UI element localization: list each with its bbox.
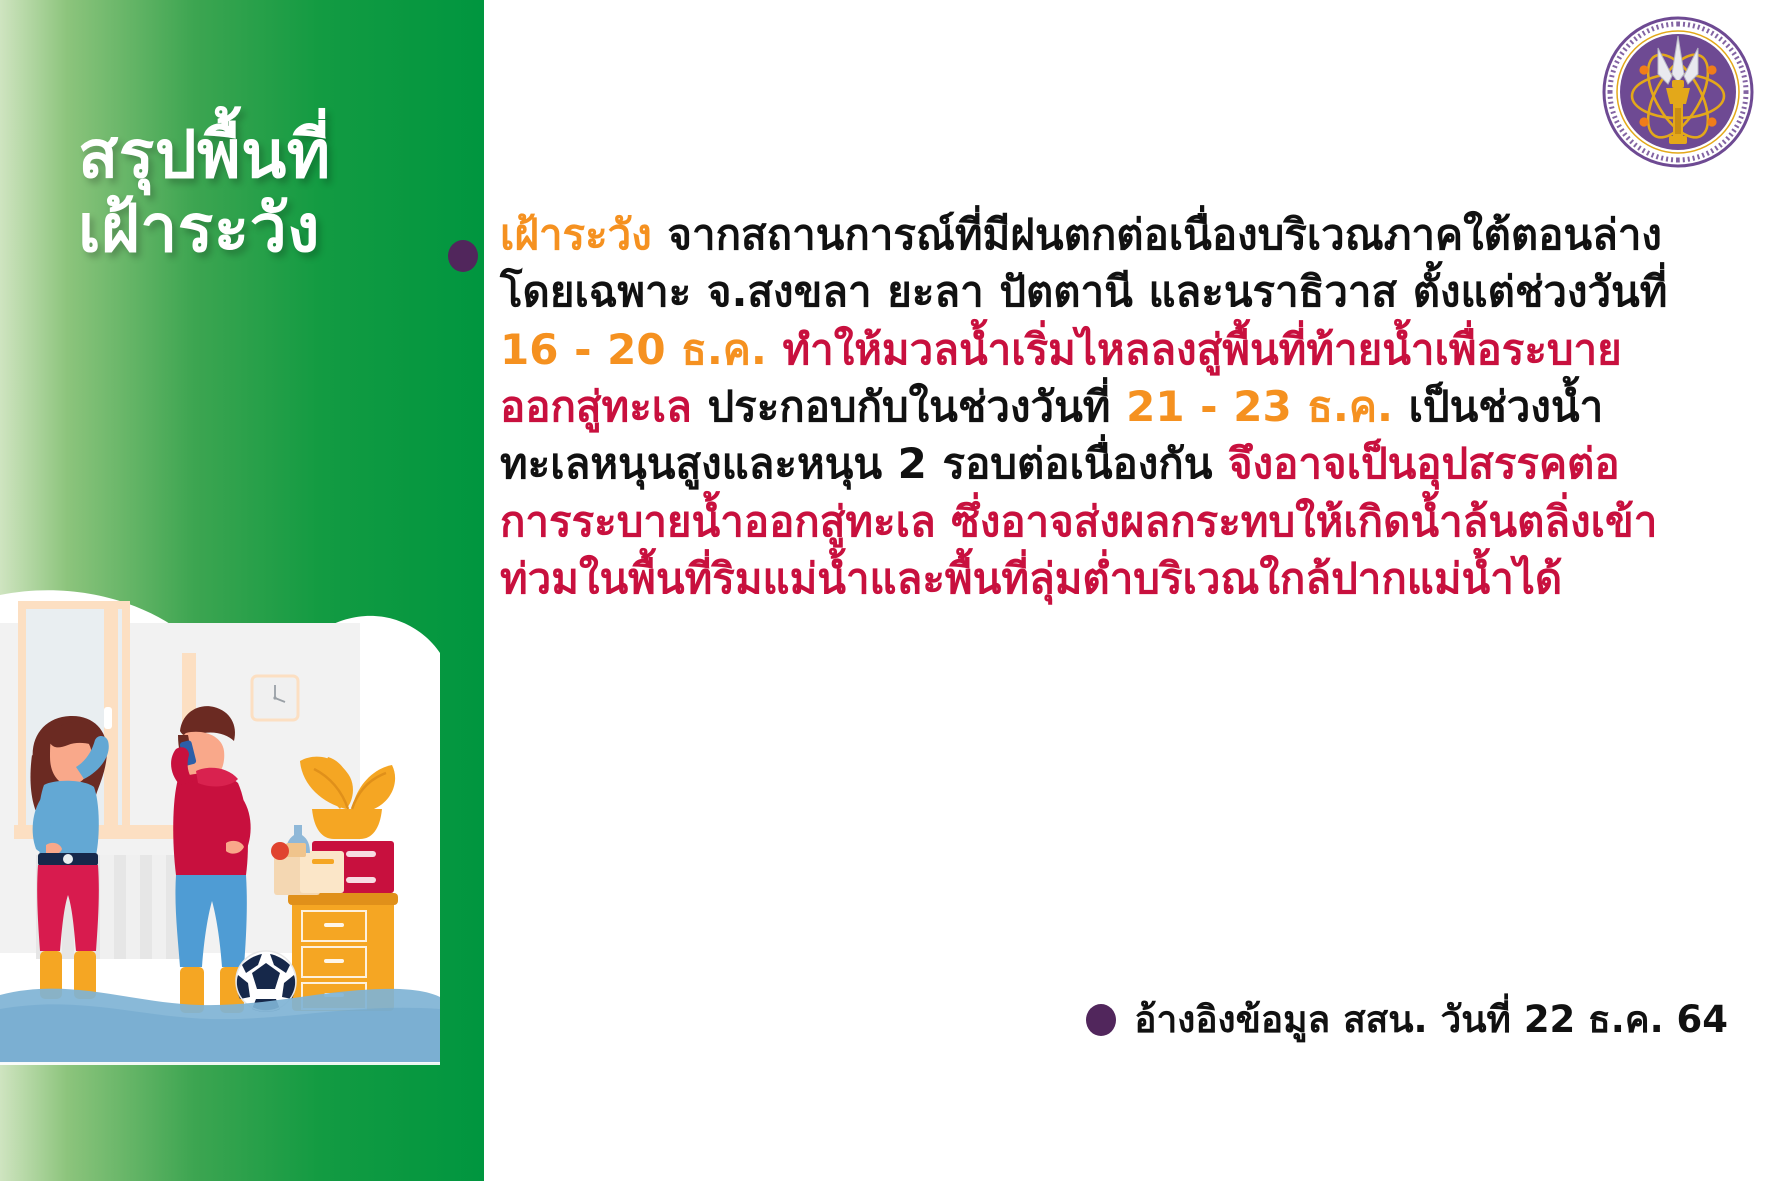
- ministry-logo: [1598, 12, 1758, 172]
- panel-divider-rule: [0, 1062, 440, 1065]
- paragraph-segment-2: 16 - 20 ธ.ค.: [500, 325, 782, 374]
- footer-bullet-icon: [1086, 1004, 1116, 1036]
- bullet-point-icon: [448, 240, 478, 272]
- flooded-room-illustration: [0, 503, 440, 1063]
- source-reference-text: อ้างอิงข้อมูล สสน. วันที่ 22 ธ.ค. 64: [1134, 990, 1728, 1049]
- page-title-line-1: สรุปพื้นที่: [78, 118, 478, 192]
- page-title-line-2: เฝ้าระวัง: [78, 192, 478, 266]
- page-title: สรุปพื้นที่ เฝ้าระวัง: [78, 118, 478, 266]
- main-bullet-row: เฝ้าระวัง จากสถานการณ์ที่มีฝนตกต่อเนื่อง…: [500, 206, 1675, 607]
- paragraph-segment-5: 21 - 23 ธ.ค.: [1126, 382, 1408, 431]
- advisory-paragraph: เฝ้าระวัง จากสถานการณ์ที่มีฝนตกต่อเนื่อง…: [500, 206, 1675, 607]
- paragraph-segment-4: ประกอบกับในช่วงวันที่: [707, 382, 1126, 431]
- paragraph-segment-1: จากสถานการณ์ที่มีฝนตกต่อเนื่องบริเวณภาคใ…: [500, 210, 1667, 316]
- left-green-panel: สรุปพื้นที่ เฝ้าระวัง: [0, 0, 484, 1181]
- paragraph-segment-0: เฝ้าระวัง: [500, 210, 667, 259]
- main-content: เฝ้าระวัง จากสถานการณ์ที่มีฝนตกต่อเนื่อง…: [500, 206, 1675, 607]
- source-footer: อ้างอิงข้อมูล สสน. วันที่ 22 ธ.ค. 64: [1086, 990, 1728, 1049]
- slide-root: สรุปพื้นที่ เฝ้าระวัง: [0, 0, 1772, 1181]
